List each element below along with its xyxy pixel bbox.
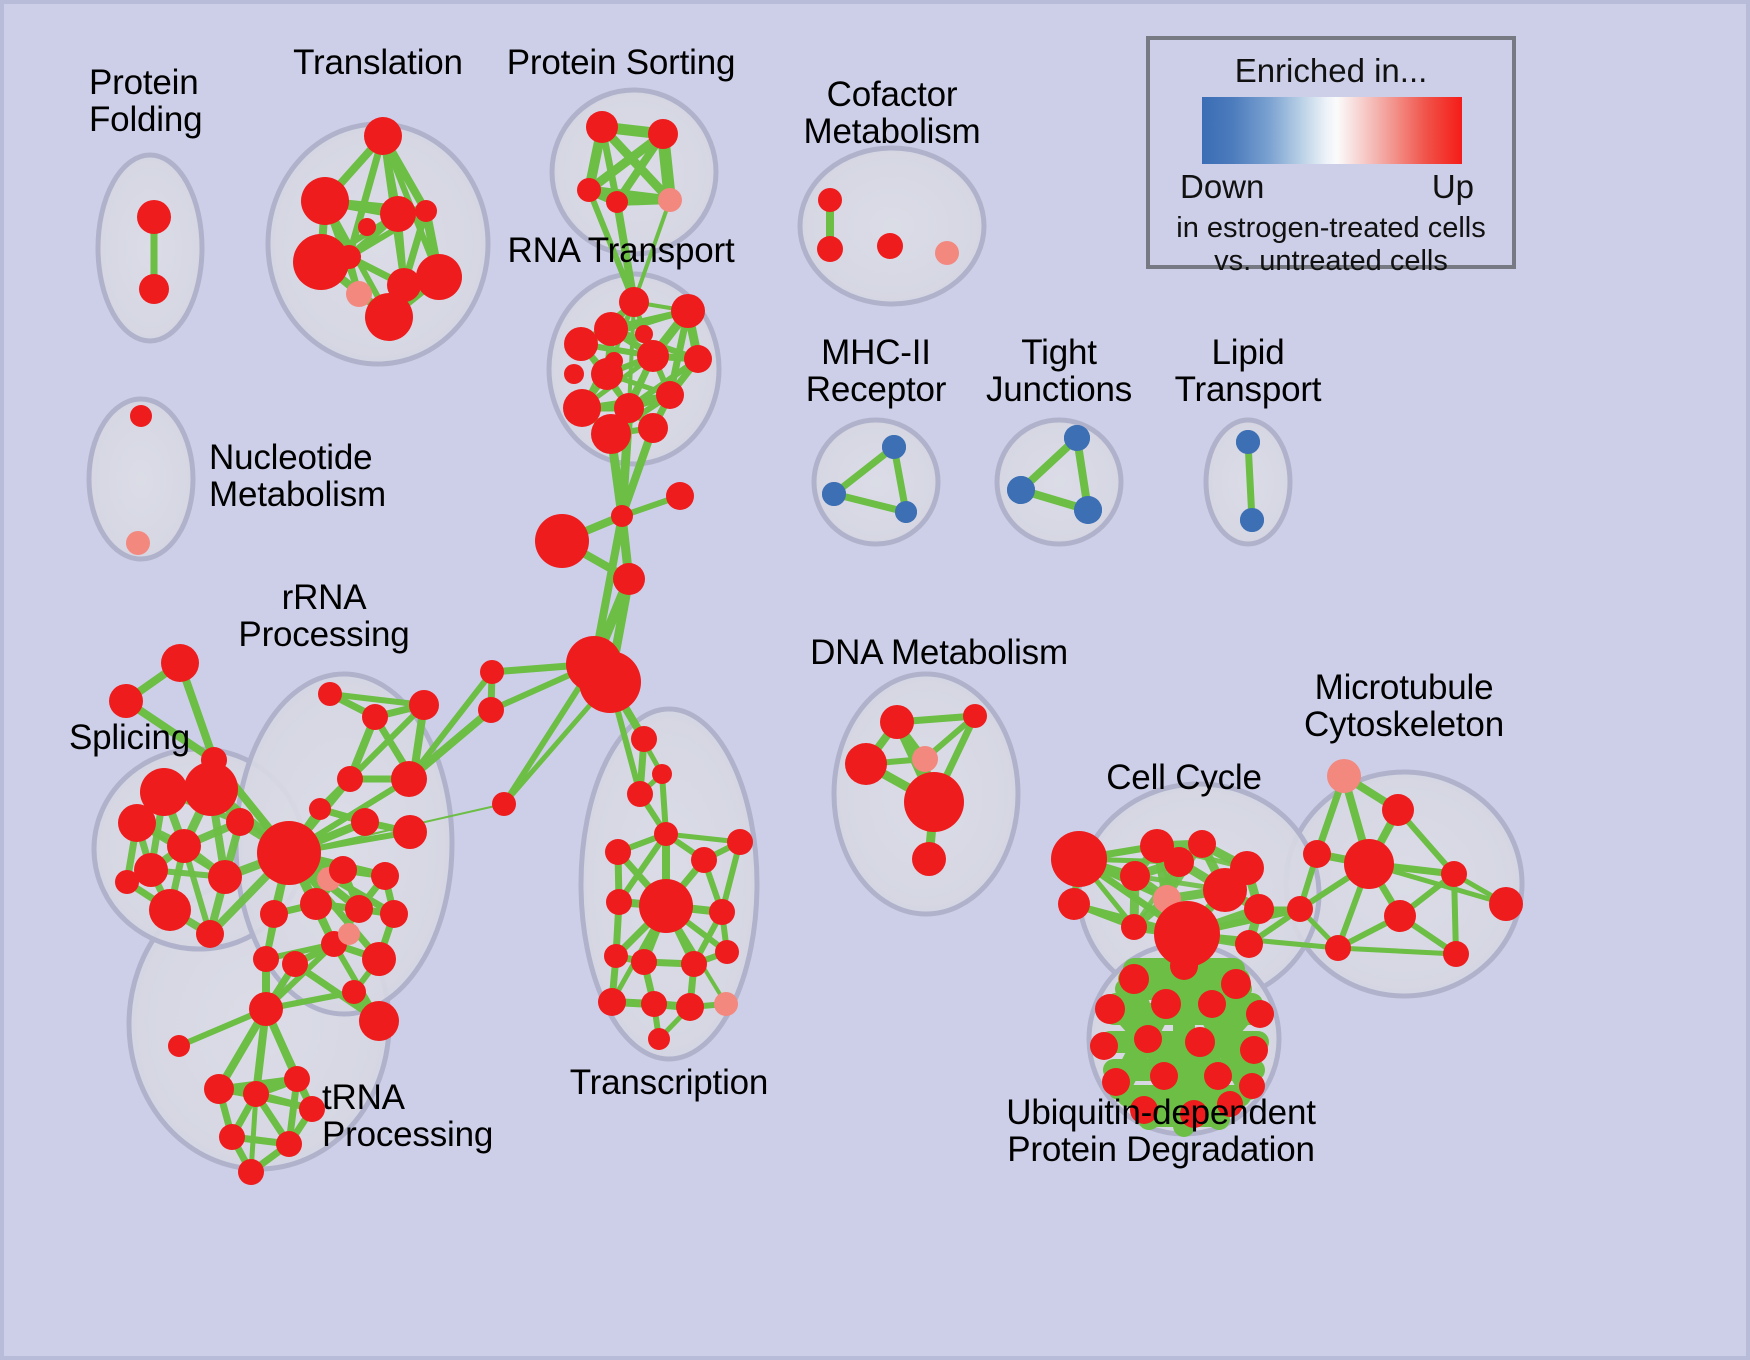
label-ubiquitin-protein-degradation: Ubiquitin-dependent Protein Degradation <box>1006 1094 1316 1169</box>
label-splicing: Splicing <box>69 719 190 756</box>
label-microtubule-cytoskeleton: Microtubule Cytoskeleton <box>1304 669 1504 744</box>
label-cofactor-metabolism: Cofactor Metabolism <box>804 76 981 151</box>
legend-down-label: Down <box>1180 168 1264 206</box>
hull-mhc-ii-receptor <box>814 420 938 544</box>
label-nucleotide-metabolism: Nucleotide Metabolism <box>209 439 386 514</box>
label-transcription: Transcription <box>570 1064 768 1101</box>
legend-subtitle-line2: vs. untreated cells <box>1150 245 1512 278</box>
color-legend: Enriched in... Down Up in estrogen-treat… <box>1146 36 1516 269</box>
label-translation: Translation <box>293 44 463 81</box>
label-protein-folding: Protein Folding <box>89 64 202 139</box>
legend-up-label: Up <box>1432 168 1474 206</box>
legend-subtitle-line1: in estrogen-treated cells <box>1150 212 1512 245</box>
label-protein-sorting: Protein Sorting <box>507 44 736 81</box>
label-rrna-processing: rRNA Processing <box>238 579 409 654</box>
label-mhc-ii-receptor: MHC-II Receptor <box>806 334 946 409</box>
hull-protein-folding <box>98 155 202 341</box>
label-cell-cycle: Cell Cycle <box>1106 759 1262 796</box>
label-tight-junctions: Tight Junctions <box>986 334 1132 409</box>
label-lipid-transport: Lipid Transport <box>1175 334 1322 409</box>
label-rna-transport: RNA Transport <box>508 232 735 269</box>
label-dna-metabolism: DNA Metabolism <box>810 634 1068 671</box>
legend-title: Enriched in... <box>1150 52 1512 90</box>
enrichment-map-figure: .hull { fill: url(#cg); stroke:#b0b2cb; … <box>0 0 1750 1360</box>
label-trna-processing: tRNA Processing <box>322 1079 493 1154</box>
legend-color-gradient-bar <box>1202 97 1462 164</box>
